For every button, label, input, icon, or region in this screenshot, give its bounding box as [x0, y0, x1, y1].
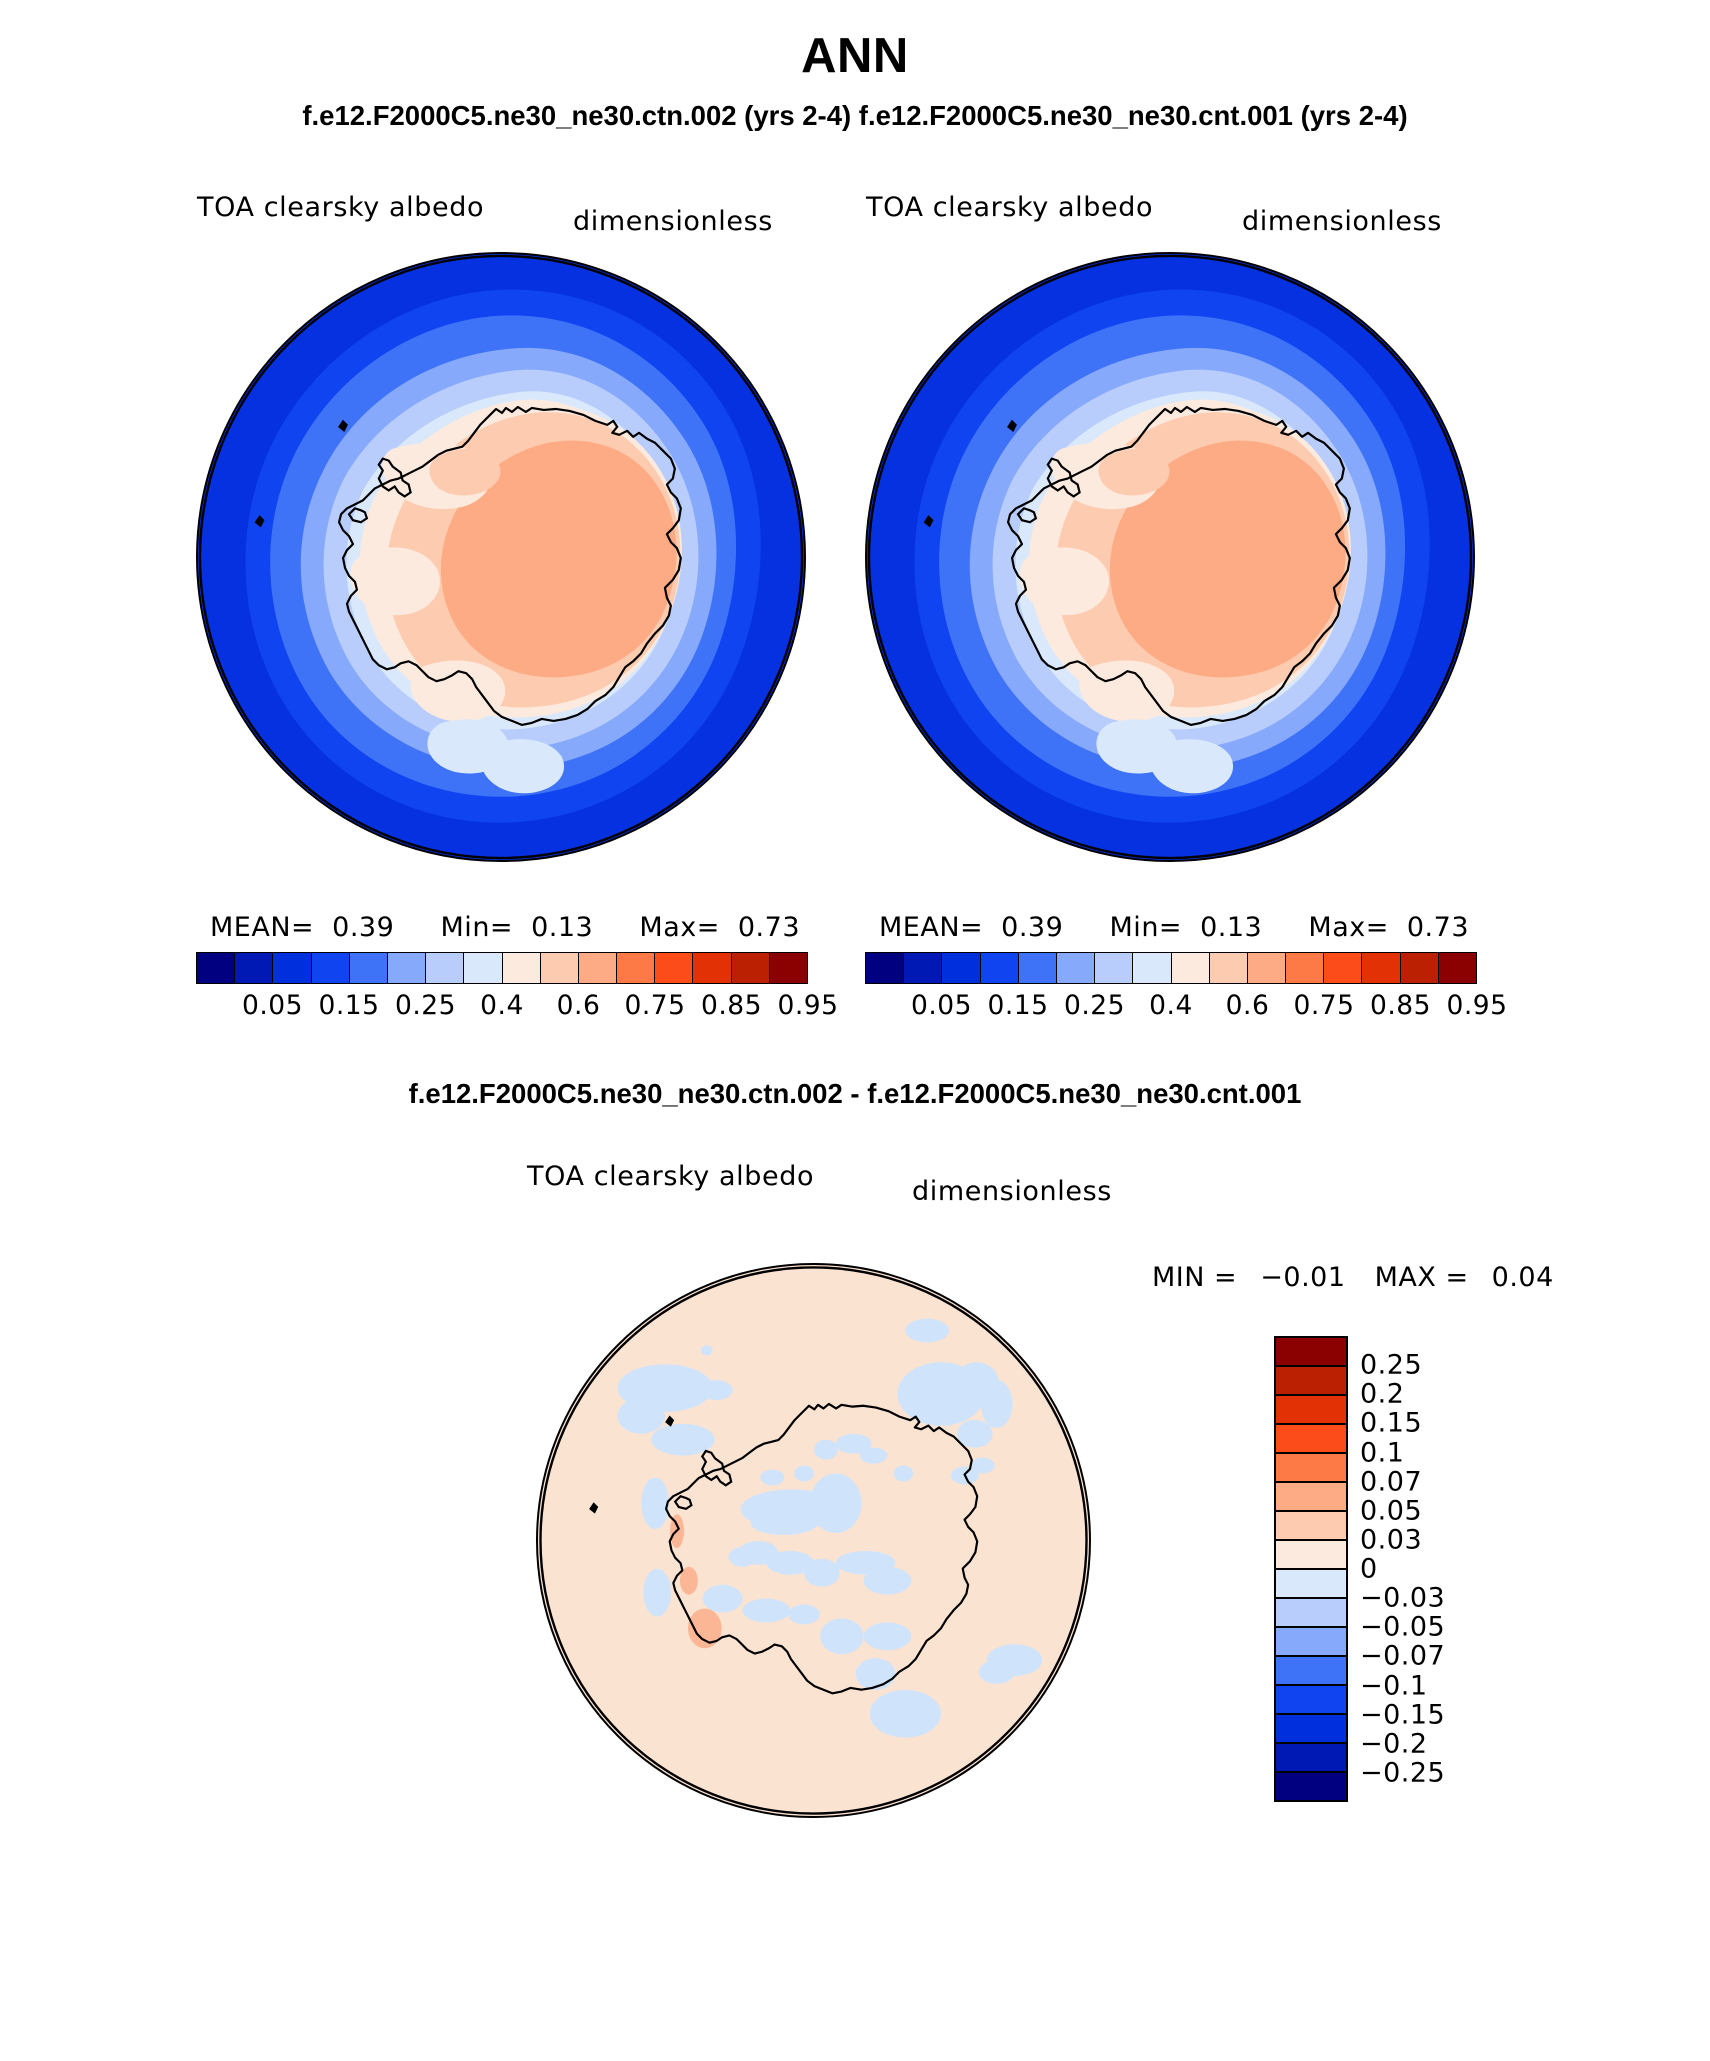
panel2-max-label: Max= — [1308, 912, 1388, 943]
difference-title: f.e12.F2000C5.ne30_ne30.ctn.002 - f.e12.… — [0, 1078, 1710, 1110]
panel1-polar-map[interactable] — [196, 252, 806, 862]
colorbar-cell-2 — [942, 953, 980, 983]
diff-colorbar-label-4: 0.07 — [1360, 1466, 1422, 1497]
diff-min-value: −0.01 — [1260, 1262, 1345, 1293]
colorbar-cell-14 — [732, 953, 770, 983]
diff-colorbar-cell-1 — [1276, 1367, 1346, 1396]
diff-polar-map[interactable] — [536, 1263, 1091, 1818]
panel2-max-value: 0.73 — [1407, 912, 1469, 943]
diff-colorbar-label-7: 0 — [1360, 1554, 1378, 1585]
colorbar-tick-0: 0.05 — [911, 990, 972, 1021]
colorbar-tick-5: 0.75 — [624, 990, 685, 1021]
diff-colorbar-cell-4 — [1276, 1454, 1346, 1483]
diff-colorbar-label-3: 0.1 — [1360, 1437, 1404, 1468]
panel1-colorbar-block: MEAN=0.39 Min=0.13 Max=0.73 0.050.150.25… — [196, 912, 808, 1024]
colorbar-cell-9 — [1210, 953, 1248, 983]
diff-colorbar-block: 0.250.20.150.10.070.050.030−0.03−0.05−0.… — [1274, 1336, 1540, 1802]
panel2-colorbar-ticks: 0.050.150.250.40.60.750.850.95 — [865, 990, 1477, 1024]
diff-colorbar-cell-12 — [1276, 1686, 1346, 1715]
colorbar-tick-6: 0.85 — [701, 990, 762, 1021]
panel1-unit-label: dimensionless — [573, 206, 773, 237]
colorbar-cell-4 — [1019, 953, 1057, 983]
diff-minmax-stats: MIN = −0.01 MAX = 0.04 — [1152, 1262, 1574, 1293]
colorbar-tick-3: 0.4 — [1149, 990, 1193, 1021]
diff-colorbar-cell-2 — [1276, 1396, 1346, 1425]
figure-subtitle: f.e12.F2000C5.ne30_ne30.ctn.002 (yrs 2-4… — [0, 100, 1710, 132]
diff-colorbar-label-1: 0.2 — [1360, 1379, 1404, 1410]
colorbar-cell-9 — [541, 953, 579, 983]
colorbar-cell-0 — [866, 953, 904, 983]
colorbar-cell-1 — [904, 953, 942, 983]
panel1-min-value: 0.13 — [531, 912, 593, 943]
colorbar-cell-7 — [1133, 953, 1171, 983]
diff-colorbar-cell-11 — [1276, 1657, 1346, 1686]
diff-colorbar-cell-10 — [1276, 1628, 1346, 1657]
colorbar-cell-3 — [981, 953, 1019, 983]
diff-max-value: 0.04 — [1492, 1262, 1554, 1293]
colorbar-cell-13 — [693, 953, 731, 983]
diff-colorbar-cell-5 — [1276, 1483, 1346, 1512]
colorbar-tick-4: 0.6 — [1226, 990, 1270, 1021]
page-title: ANN — [0, 28, 1710, 84]
diff-max-label: MAX = — [1375, 1262, 1469, 1293]
diff-colorbar-label-0: 0.25 — [1360, 1350, 1422, 1381]
colorbar-cell-15 — [770, 953, 807, 983]
colorbar-tick-0: 0.05 — [242, 990, 303, 1021]
panel1-colorbar-strip[interactable] — [196, 952, 808, 984]
diff-colorbar-cell-9 — [1276, 1599, 1346, 1628]
panel1-stats: MEAN=0.39 Min=0.13 Max=0.73 — [196, 912, 808, 943]
colorbar-cell-11 — [1286, 953, 1324, 983]
diff-unit-label: dimensionless — [912, 1176, 1112, 1207]
colorbar-tick-5: 0.75 — [1293, 990, 1354, 1021]
colorbar-cell-11 — [617, 953, 655, 983]
colorbar-cell-5 — [1057, 953, 1095, 983]
panel1-mean-label: MEAN= — [210, 912, 314, 943]
panel2-colorbar-strip[interactable] — [865, 952, 1477, 984]
colorbar-cell-3 — [312, 953, 350, 983]
colorbar-tick-3: 0.4 — [480, 990, 524, 1021]
colorbar-cell-1 — [235, 953, 273, 983]
panel2-stats: MEAN=0.39 Min=0.13 Max=0.73 — [865, 912, 1477, 943]
panel1-max-value: 0.73 — [738, 912, 800, 943]
colorbar-tick-7: 0.95 — [1446, 990, 1507, 1021]
diff-colorbar-cell-8 — [1276, 1570, 1346, 1599]
diff-colorbar-strip[interactable] — [1274, 1336, 1348, 1802]
diff-colorbar-cell-7 — [1276, 1541, 1346, 1570]
colorbar-tick-6: 0.85 — [1370, 990, 1431, 1021]
diff-colorbar-cell-3 — [1276, 1425, 1346, 1454]
panel1-colorbar-ticks: 0.050.150.250.40.60.750.850.95 — [196, 990, 808, 1024]
panel1-min-label: Min= — [441, 912, 514, 943]
diff-colorbar-label-5: 0.05 — [1360, 1495, 1422, 1526]
diff-colorbar-cell-15 — [1276, 1773, 1346, 1800]
panel2-map-contours — [867, 254, 1473, 860]
colorbar-cell-6 — [426, 953, 464, 983]
colorbar-cell-12 — [1324, 953, 1362, 983]
panel1-mean-value: 0.39 — [332, 912, 394, 943]
diff-colorbar-labels: 0.250.20.150.10.070.050.030−0.03−0.05−0.… — [1360, 1336, 1540, 1802]
colorbar-cell-10 — [579, 953, 617, 983]
colorbar-tick-1: 0.15 — [987, 990, 1048, 1021]
panel2-colorbar-block: MEAN=0.39 Min=0.13 Max=0.73 0.050.150.25… — [865, 912, 1477, 1024]
diff-colorbar-label-8: −0.03 — [1360, 1583, 1445, 1614]
diff-colorbar-label-2: 0.15 — [1360, 1408, 1422, 1439]
diff-colorbar-cell-0 — [1276, 1338, 1346, 1367]
diff-colorbar-label-10: −0.07 — [1360, 1641, 1445, 1672]
colorbar-cell-6 — [1095, 953, 1133, 983]
diff-colorbar-cell-14 — [1276, 1744, 1346, 1773]
colorbar-cell-2 — [273, 953, 311, 983]
colorbar-cell-8 — [503, 953, 541, 983]
colorbar-cell-4 — [350, 953, 388, 983]
colorbar-cell-5 — [388, 953, 426, 983]
colorbar-tick-7: 0.95 — [777, 990, 838, 1021]
diff-colorbar-label-12: −0.15 — [1360, 1699, 1445, 1730]
panel1-variable-label: TOA clearsky albedo — [197, 192, 484, 223]
colorbar-tick-1: 0.15 — [318, 990, 379, 1021]
colorbar-cell-0 — [197, 953, 235, 983]
diff-map-contours — [538, 1265, 1089, 1816]
diff-colorbar-label-14: −0.25 — [1360, 1757, 1445, 1788]
diff-colorbar-label-13: −0.2 — [1360, 1728, 1428, 1759]
diff-colorbar-label-11: −0.1 — [1360, 1670, 1428, 1701]
panel2-min-value: 0.13 — [1200, 912, 1262, 943]
panel2-variable-label: TOA clearsky albedo — [866, 192, 1153, 223]
panel1-map-contours — [198, 254, 804, 860]
colorbar-tick-2: 0.25 — [1064, 990, 1125, 1021]
colorbar-tick-4: 0.6 — [557, 990, 601, 1021]
diff-colorbar-cell-13 — [1276, 1715, 1346, 1744]
colorbar-cell-12 — [655, 953, 693, 983]
colorbar-cell-14 — [1401, 953, 1439, 983]
panel2-unit-label: dimensionless — [1242, 206, 1442, 237]
panel1-max-label: Max= — [639, 912, 719, 943]
colorbar-tick-2: 0.25 — [395, 990, 456, 1021]
colorbar-cell-15 — [1439, 953, 1476, 983]
panel2-polar-map[interactable] — [865, 252, 1475, 862]
diff-min-label: MIN = — [1152, 1262, 1237, 1293]
colorbar-cell-8 — [1172, 953, 1210, 983]
colorbar-cell-7 — [464, 953, 502, 983]
diff-colorbar-label-6: 0.03 — [1360, 1524, 1422, 1555]
panel2-mean-value: 0.39 — [1001, 912, 1063, 943]
diff-colorbar-cell-6 — [1276, 1512, 1346, 1541]
panel2-mean-label: MEAN= — [879, 912, 983, 943]
colorbar-cell-10 — [1248, 953, 1286, 983]
colorbar-cell-13 — [1362, 953, 1400, 983]
diff-colorbar-label-9: −0.05 — [1360, 1612, 1445, 1643]
panel2-min-label: Min= — [1110, 912, 1183, 943]
diff-variable-label: TOA clearsky albedo — [527, 1161, 814, 1192]
